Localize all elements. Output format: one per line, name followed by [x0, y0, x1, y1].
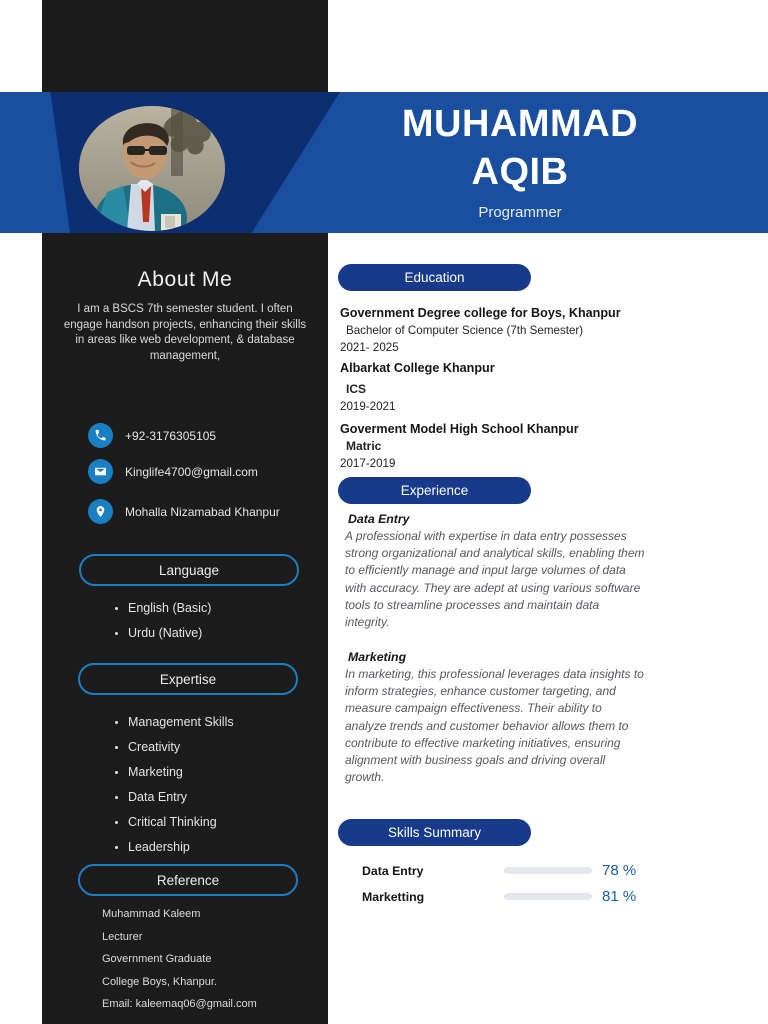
language-heading-pill[interactable]: Language: [79, 554, 299, 586]
name-line-2: AQIB: [300, 148, 740, 196]
email-icon: [88, 459, 113, 484]
resume-page: MUHAMMAD AQIB Programmer About Me I am a…: [0, 0, 768, 1024]
list-item: Urdu (Native): [128, 621, 318, 646]
experience-description: In marketing, this professional leverage…: [345, 666, 645, 786]
reference-heading-pill[interactable]: Reference: [78, 864, 298, 896]
phone-icon: [88, 423, 113, 448]
skill-label: Data Entry: [362, 864, 504, 878]
address-value: Mohalla Nizamabad Khanpur: [125, 505, 280, 519]
experience-description: A professional with expertise in data en…: [345, 528, 645, 631]
about-me-heading: About Me: [42, 268, 328, 292]
education-heading-label: Education: [404, 270, 464, 285]
education-years: 2019-2021: [340, 398, 670, 415]
reference-org-1: Government Graduate: [102, 948, 257, 971]
expertise-heading-pill[interactable]: Expertise: [78, 663, 298, 695]
skill-percent: 78 %: [602, 862, 636, 879]
reference-heading-label: Reference: [157, 873, 219, 888]
name-block: MUHAMMAD AQIB Programmer: [300, 100, 740, 224]
list-item: Data Entry: [128, 785, 318, 810]
reference-name: Muhammad Kaleem: [102, 903, 257, 926]
reference-org-2: College Boys, Khanpur.: [102, 971, 257, 994]
list-item: Critical Thinking: [128, 810, 318, 835]
contact-phone[interactable]: +92-3176305105: [88, 423, 216, 448]
skills-heading-pill[interactable]: Skills Summary: [338, 819, 531, 846]
name-line-1: MUHAMMAD: [300, 100, 740, 148]
education-entry: Goverment Model High School Khanpur Matr…: [340, 420, 670, 472]
list-item: Creativity: [128, 735, 318, 760]
education-degree: Bachelor of Computer Science (7th Semest…: [340, 322, 670, 339]
reference-position: Lecturer: [102, 926, 257, 949]
skills-heading-label: Skills Summary: [388, 825, 481, 840]
education-school: Albarkat College Khanpur: [340, 359, 670, 377]
contact-address[interactable]: Mohalla Nizamabad Khanpur: [88, 499, 280, 524]
avatar: [79, 106, 225, 231]
location-pin-icon: [88, 499, 113, 524]
language-list: English (Basic) Urdu (Native): [110, 596, 318, 646]
education-entry: Government Degree college for Boys, Khan…: [340, 304, 670, 356]
education-school: Government Degree college for Boys, Khan…: [340, 304, 670, 322]
experience-heading-pill[interactable]: Experience: [338, 477, 531, 504]
skill-progress-bar: [504, 893, 592, 900]
list-item: Leadership: [128, 835, 318, 860]
experience-role: Data Entry: [348, 512, 410, 526]
expertise-list: Management Skills Creativity Marketing D…: [110, 710, 318, 860]
job-title: Programmer: [300, 202, 740, 224]
experience-heading-label: Experience: [401, 483, 469, 498]
email-value: Kinglife4700@gmail.com: [125, 465, 258, 479]
expertise-heading-label: Expertise: [160, 672, 216, 687]
education-years: 2017-2019: [340, 455, 670, 472]
education-degree: ICS: [340, 381, 670, 398]
skill-percent: 81 %: [602, 888, 636, 905]
about-me-text: I am a BSCS 7th semester student. I ofte…: [60, 302, 310, 364]
list-item: English (Basic): [128, 596, 318, 621]
language-heading-label: Language: [159, 563, 219, 578]
phone-value: +92-3176305105: [125, 429, 216, 443]
list-item: Marketing: [128, 760, 318, 785]
education-heading-pill[interactable]: Education: [338, 264, 531, 291]
experience-role: Marketing: [348, 650, 406, 664]
list-item: Management Skills: [128, 710, 318, 735]
skill-progress-bar: [504, 867, 592, 874]
education-entry: Albarkat College Khanpur ICS 2019-2021: [340, 359, 670, 415]
skill-row: Marketting 81 %: [362, 888, 652, 905]
reference-details: Muhammad Kaleem Lecturer Government Grad…: [102, 903, 257, 1016]
education-degree: Matric: [340, 438, 670, 455]
skill-label: Marketting: [362, 890, 504, 904]
reference-email: Email: kaleemaq06@gmail.com: [102, 993, 257, 1016]
education-school: Goverment Model High School Khanpur: [340, 420, 670, 438]
education-years: 2021- 2025: [340, 339, 670, 356]
skill-row: Data Entry 78 %: [362, 862, 652, 879]
contact-email[interactable]: Kinglife4700@gmail.com: [88, 459, 258, 484]
